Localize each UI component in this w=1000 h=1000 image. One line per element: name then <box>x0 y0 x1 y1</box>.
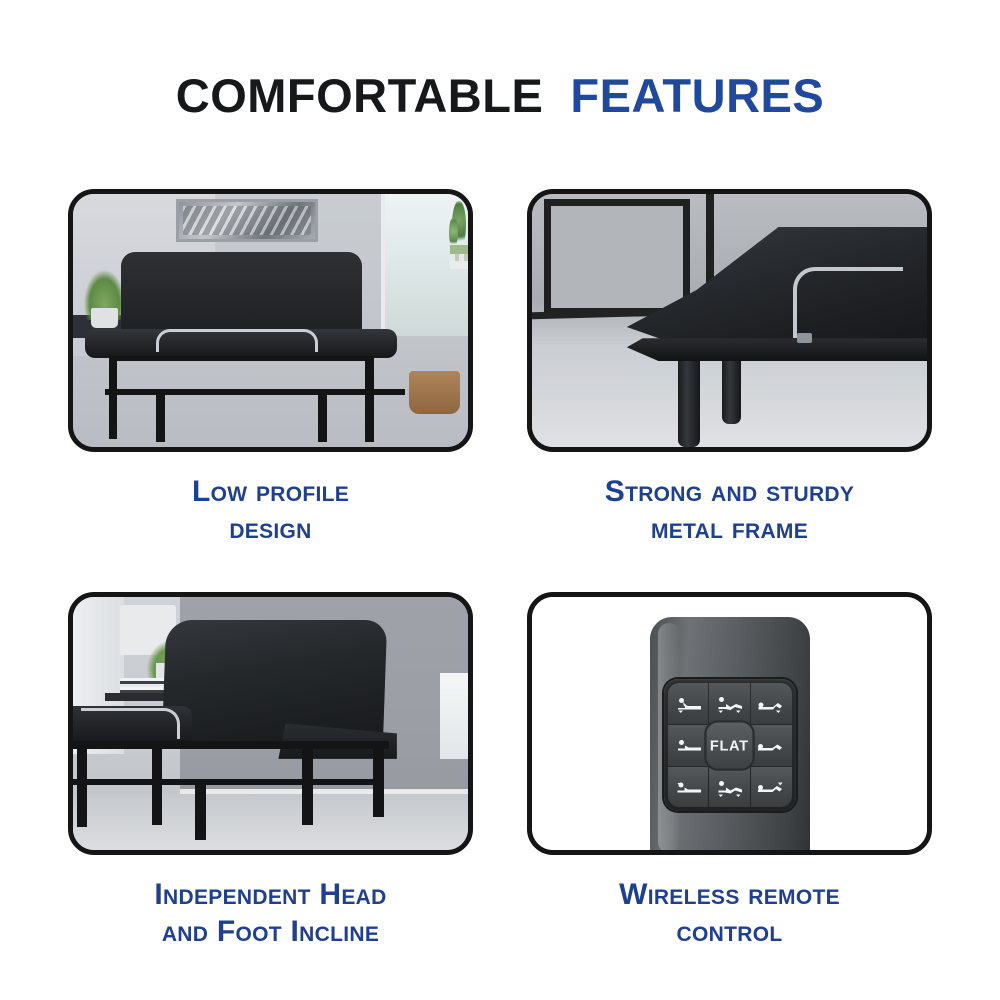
retainer-clip <box>797 333 813 343</box>
feature-image-low-profile-design <box>68 189 473 452</box>
foot-down-icon <box>756 734 786 756</box>
basket <box>409 371 460 414</box>
frame-leg <box>722 353 742 424</box>
bed-leg <box>302 749 313 825</box>
remote-button-foot-up[interactable] <box>751 683 792 724</box>
floor <box>73 794 468 850</box>
caption-line-2: control <box>677 914 783 951</box>
head-and-foot-up-icon <box>714 693 744 715</box>
window-frame <box>544 199 690 315</box>
scene-bedroom-flat <box>73 194 468 447</box>
feature-grid: Low profile design Strong and sturdy met… <box>68 189 932 909</box>
bed-rail <box>73 779 381 785</box>
feature-image-independent-head-and-foot-incline <box>68 592 473 855</box>
head-and-foot-down-icon <box>714 776 744 798</box>
bed-platform-edge <box>627 338 927 361</box>
feature-caption-wireless-remote-control: Wireless remote control <box>527 855 932 995</box>
feature-caption-low-profile-design: Low profile design <box>68 452 473 592</box>
caption-line-2: design <box>229 511 311 548</box>
remote-button-head-and-foot-up[interactable] <box>709 683 750 724</box>
scene-remote-closeup: FLAT <box>532 597 927 850</box>
remote-button-head-and-foot-down[interactable] <box>709 767 750 808</box>
head-down-icon <box>673 734 703 756</box>
chrome-retainer-bar <box>156 329 318 352</box>
bed-leg <box>195 779 206 840</box>
infographic-page: COMFORTABLE FEATURES <box>0 0 1000 1000</box>
bed-support <box>113 356 374 361</box>
flat-button-label: FLAT <box>710 737 749 754</box>
remote-button-foot-down[interactable] <box>751 725 792 766</box>
bed-leg <box>365 356 374 442</box>
tree-secondary-icon <box>449 217 458 248</box>
framed-wall-art <box>176 199 318 242</box>
caption-line-2: and Foot Incline <box>162 914 379 951</box>
title-accent: FEATURES <box>570 69 824 122</box>
chrome-retainer-bar <box>81 708 180 738</box>
head-up-icon <box>673 693 703 715</box>
bed-leg <box>152 749 162 825</box>
remote-button-foot-lower[interactable] <box>751 767 792 808</box>
scene-bedroom-inclined <box>73 597 468 850</box>
window <box>440 673 468 759</box>
title-primary: COMFORTABLE <box>176 69 544 122</box>
window <box>381 194 468 336</box>
caption-line-1: Strong and sturdy <box>605 474 854 511</box>
outdoor-fence <box>450 254 468 261</box>
caption-line-1: Wireless remote <box>619 877 840 914</box>
window-sill <box>450 261 468 270</box>
remote-control-body: FLAT <box>650 617 810 850</box>
caption-line-1: Independent Head <box>154 877 386 914</box>
bed-leg <box>373 741 384 817</box>
foot-up-icon <box>756 693 786 715</box>
bed-leg <box>318 389 327 442</box>
feature-image-strong-sturdy-metal-frame <box>527 189 932 452</box>
scene-frame-closeup <box>532 194 927 447</box>
chrome-retainer-bar <box>793 267 904 338</box>
foot-lower-icon <box>756 776 786 798</box>
remote-button-flat[interactable]: FLAT <box>707 722 753 768</box>
bed-headrest-raised <box>162 620 388 747</box>
remote-key-grid: FLAT <box>668 683 792 807</box>
bed-leg <box>156 389 165 442</box>
page-title: COMFORTABLE FEATURES <box>0 72 1000 119</box>
remote-keypad: FLAT <box>664 679 796 811</box>
caption-line-1: Low profile <box>192 474 349 511</box>
bed-rail <box>73 741 389 749</box>
remote-button-head-down[interactable] <box>668 725 709 766</box>
head-lower-icon <box>673 776 703 798</box>
feature-caption-independent-head-and-foot-incline: Independent Head and Foot Incline <box>68 855 473 995</box>
caption-line-2: metal frame <box>651 511 808 548</box>
bed-leg <box>77 741 87 827</box>
bed-rail <box>105 389 405 395</box>
bed-leg <box>109 356 118 439</box>
remote-button-head-up[interactable] <box>668 683 709 724</box>
frame-leg <box>678 346 700 447</box>
feature-caption-strong-sturdy-metal-frame: Strong and sturdy metal frame <box>527 452 932 592</box>
remote-button-head-lower[interactable] <box>668 767 709 808</box>
feature-image-wireless-remote-control: FLAT <box>527 592 932 855</box>
plant-pot <box>91 308 119 328</box>
